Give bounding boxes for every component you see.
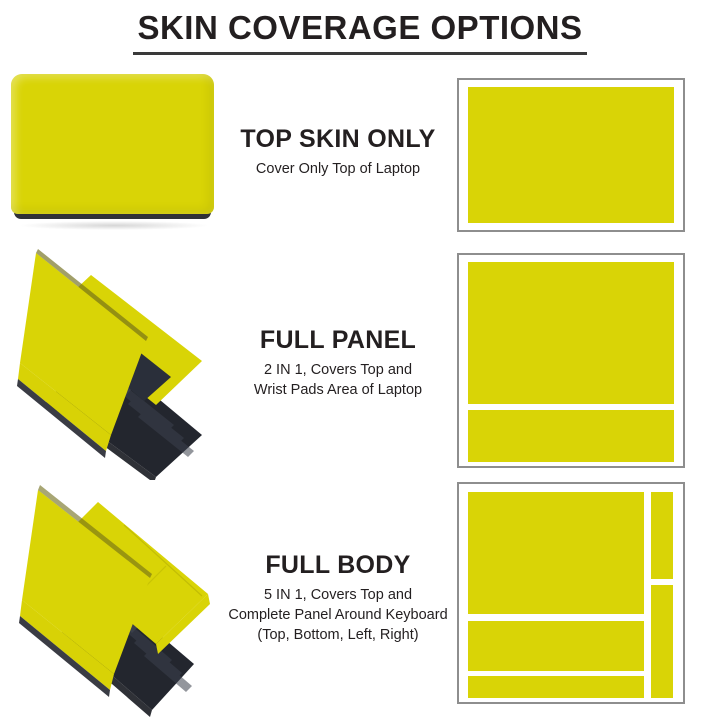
- piece-top-lid-panel: [468, 262, 674, 404]
- option-text-full-body: FULL BODY 5 IN 1, Covers Top and Complet…: [232, 478, 444, 718]
- open-laptop-graphic-full-body: [6, 478, 232, 718]
- open-laptop-graphic-full-panel: [6, 245, 232, 480]
- skin-sheet-top-skin-only: [444, 62, 720, 242]
- option-text-full-panel: FULL PANEL 2 IN 1, Covers Top and Wrist …: [232, 245, 444, 480]
- closed-laptop-graphic: [11, 74, 214, 226]
- laptop-lid-skin: [11, 74, 214, 214]
- piece-top-lid-panel: [468, 87, 674, 223]
- illustration-open-laptop-full-body: [0, 478, 232, 718]
- option-title: TOP SKIN ONLY: [240, 125, 435, 154]
- piece-right-side-strip-lower: [651, 585, 673, 698]
- illustration-open-laptop-full-panel: [0, 245, 232, 480]
- piece-right-side-strip-upper: [651, 492, 673, 579]
- page-title-container: SKIN COVERAGE OPTIONS: [0, 8, 720, 55]
- piece-bottom-panel: [468, 676, 644, 698]
- skin-coverage-infographic: { "header": { "title": "SKIN COVERAGE OP…: [0, 0, 720, 720]
- piece-wrist-pad-panel: [468, 410, 674, 462]
- option-subtitle-line: 2 IN 1, Covers Top and: [264, 360, 412, 380]
- skin-sheet-full-panel: [444, 245, 720, 480]
- option-subtitle-line: Cover Only Top of Laptop: [256, 159, 420, 179]
- page-title: SKIN COVERAGE OPTIONS: [133, 8, 586, 55]
- option-title: FULL BODY: [265, 551, 410, 580]
- option-subtitle-line: Wrist Pads Area of Laptop: [254, 380, 422, 400]
- option-row-full-panel: FULL PANEL 2 IN 1, Covers Top and Wrist …: [0, 245, 720, 480]
- sheet-frame: [457, 78, 685, 232]
- laptop-drop-shadow: [21, 221, 207, 230]
- option-row-full-body: FULL BODY 5 IN 1, Covers Top and Complet…: [0, 478, 720, 718]
- option-title: FULL PANEL: [260, 326, 416, 355]
- sheet-frame: [457, 482, 685, 704]
- option-row-top-skin-only: TOP SKIN ONLY Cover Only Top of Laptop: [0, 62, 720, 242]
- skin-sheet-full-body: [444, 478, 720, 718]
- option-subtitle-line: 5 IN 1, Covers Top and: [264, 585, 412, 605]
- sheet-frame: [457, 253, 685, 468]
- option-text-top-skin-only: TOP SKIN ONLY Cover Only Top of Laptop: [232, 62, 444, 242]
- option-subtitle-line: Complete Panel Around Keyboard: [228, 605, 447, 625]
- option-subtitle-line: (Top, Bottom, Left, Right): [257, 625, 418, 645]
- piece-top-lid-panel: [468, 492, 644, 614]
- illustration-closed-laptop: [0, 62, 232, 242]
- piece-wrist-pad-panel: [468, 621, 644, 671]
